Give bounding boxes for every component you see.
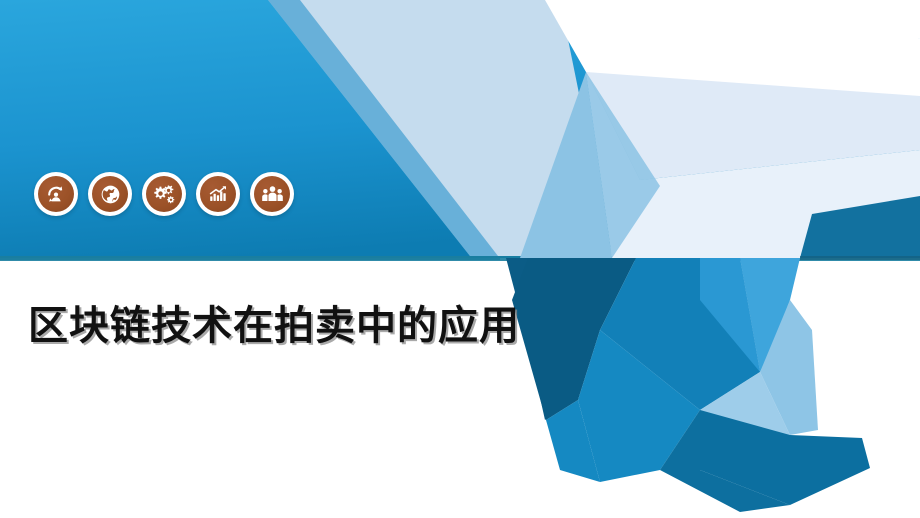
growth-cycle-icon [38, 176, 74, 212]
band-edge-right [800, 256, 920, 260]
band-edge-left [0, 256, 500, 260]
icon-badge-gears[interactable] [142, 172, 186, 216]
gears-icon [146, 176, 182, 212]
presentation-slide: 数智创新 变革未来 [0, 0, 920, 518]
slide-tagline: 数智创新 变革未来 [715, 27, 902, 57]
icon-badge-growth-cycle[interactable] [34, 172, 78, 216]
page-title: 区块链技术在拍卖中的应用 [28, 293, 520, 351]
icon-badge-bar-chart[interactable] [196, 172, 240, 216]
icon-badge-team-group[interactable] [250, 172, 294, 216]
icon-badge-globe[interactable] [88, 172, 132, 216]
globe-icon [92, 176, 128, 212]
team-group-icon [254, 176, 290, 212]
background-artwork [0, 0, 920, 518]
feature-icon-row [34, 172, 294, 216]
bar-chart-icon [200, 176, 236, 212]
